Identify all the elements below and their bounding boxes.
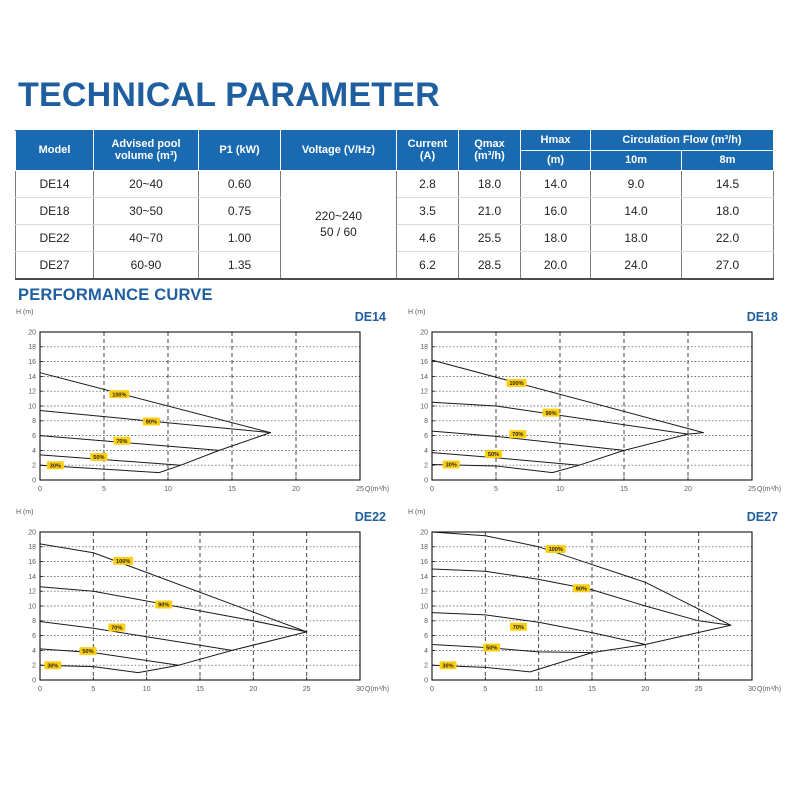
cell-circ-10m: 9.0 (591, 170, 682, 197)
de22-plot: 02468101214161820051015202530Q(m³/h)100%… (18, 524, 390, 702)
svg-text:70%: 70% (116, 439, 127, 445)
svg-text:25: 25 (303, 686, 311, 693)
chart-de14-model-label: DE14 (355, 310, 386, 324)
cell-current: 3.5 (397, 197, 459, 224)
de27-series-100pct (432, 532, 731, 625)
svg-text:14: 14 (420, 374, 428, 381)
svg-text:6: 6 (424, 433, 428, 440)
svg-text:20: 20 (28, 329, 36, 336)
cell-model: DE18 (16, 197, 94, 224)
cell-model: DE14 (16, 170, 94, 197)
cell-current: 2.8 (397, 170, 459, 197)
de18-series-100pct (432, 360, 703, 433)
spec-sheet-page: TECHNICAL PARAMETER Model Advised pool v… (0, 0, 800, 800)
cell-hmax: 20.0 (521, 251, 591, 279)
cell-p1: 1.00 (199, 224, 281, 251)
svg-text:10: 10 (420, 403, 428, 410)
de18-badge-50pct: 50% (485, 450, 502, 458)
svg-text:20: 20 (420, 329, 428, 336)
svg-text:6: 6 (424, 633, 428, 640)
svg-text:16: 16 (420, 359, 428, 366)
svg-text:50%: 50% (488, 452, 499, 458)
svg-text:16: 16 (420, 559, 428, 566)
svg-text:18: 18 (28, 344, 36, 351)
svg-text:30%: 30% (446, 463, 457, 469)
svg-text:10: 10 (28, 603, 36, 610)
de18-badge-90pct: 90% (543, 409, 560, 417)
svg-text:100%: 100% (116, 559, 130, 565)
cell-qmax: 28.5 (459, 251, 521, 279)
de18-plot: 024681012141618200510152025Q(m³/h)100%90… (410, 324, 782, 502)
svg-text:8: 8 (424, 418, 428, 425)
cell-current: 6.2 (397, 251, 459, 279)
svg-text:20: 20 (249, 686, 257, 693)
svg-text:4: 4 (32, 648, 36, 655)
svg-text:100%: 100% (509, 381, 523, 387)
header-advised-pool-volume: Advised pool volume (m³) (94, 131, 199, 171)
cell-circ-10m: 24.0 (591, 251, 682, 279)
svg-text:15: 15 (196, 686, 204, 693)
svg-text:20: 20 (641, 686, 649, 693)
de27-series-90pct (432, 569, 731, 625)
de18-series-90pct (432, 402, 703, 434)
svg-text:14: 14 (420, 574, 428, 581)
svg-text:90%: 90% (545, 411, 556, 417)
svg-text:5: 5 (483, 686, 487, 693)
header-voltage: Voltage (V/Hz) (281, 131, 397, 171)
chart-de27-model-label: DE27 (747, 510, 778, 524)
svg-text:5: 5 (91, 686, 95, 693)
section-title-performance-curve: PERFORMANCE CURVE (18, 286, 213, 305)
svg-text:2: 2 (32, 663, 36, 670)
svg-text:18: 18 (420, 544, 428, 551)
de18-badge-100pct: 100% (506, 379, 526, 387)
svg-text:0: 0 (38, 486, 42, 493)
svg-text:4: 4 (32, 448, 36, 455)
svg-text:6: 6 (32, 633, 36, 640)
svg-text:10: 10 (556, 486, 564, 493)
cell-hmax: 18.0 (521, 224, 591, 251)
cell-qmax: 25.5 (459, 224, 521, 251)
svg-text:20: 20 (292, 486, 300, 493)
de27-badge-70pct: 70% (510, 623, 527, 631)
svg-text:100%: 100% (112, 392, 126, 398)
cell-circ-8m: 22.0 (682, 224, 774, 251)
svg-text:10: 10 (164, 486, 172, 493)
de22-series-70pct (40, 622, 307, 651)
svg-text:8: 8 (32, 618, 36, 625)
chart-de27: H (m) DE27 02468101214161820051015202530… (410, 512, 782, 702)
svg-text:0: 0 (32, 477, 36, 484)
cell-volume: 40~70 (94, 224, 199, 251)
de18-badge-30pct: 30% (443, 460, 460, 468)
svg-text:30%: 30% (442, 663, 453, 669)
svg-text:70%: 70% (513, 625, 524, 631)
page-title: TECHNICAL PARAMETER (18, 78, 440, 112)
chart-de14: H (m) DE14 024681012141618200510152025Q(… (18, 312, 390, 502)
svg-text:90%: 90% (158, 603, 169, 609)
de14-plot: 024681012141618200510152025Q(m³/h)100%90… (18, 324, 390, 502)
svg-text:14: 14 (28, 374, 36, 381)
header-advised-pool-volume-line1: Advised pool (111, 138, 180, 150)
de27-badge-90pct: 90% (573, 584, 590, 592)
de14-badge-100pct: 100% (109, 390, 129, 398)
de22-badge-100pct: 100% (113, 557, 133, 565)
svg-text:50%: 50% (82, 649, 93, 655)
chart-de18-model-label: DE18 (747, 310, 778, 324)
chart-de14-y-axis-label: H (m) (16, 309, 34, 316)
svg-text:18: 18 (420, 344, 428, 351)
svg-text:30%: 30% (47, 663, 58, 669)
chart-de22-y-axis-label: H (m) (16, 509, 34, 516)
cell-model: DE22 (16, 224, 94, 251)
svg-text:15: 15 (620, 486, 628, 493)
svg-text:2: 2 (424, 463, 428, 470)
svg-text:0: 0 (430, 486, 434, 493)
cell-model: DE27 (16, 251, 94, 279)
chart-de18: H (m) DE18 024681012141618200510152025Q(… (410, 312, 782, 502)
cell-hmax: 16.0 (521, 197, 591, 224)
header-model: Model (16, 131, 94, 171)
table-row: DE14 20~40 0.60 220~240 50 / 60 2.8 18.0… (16, 170, 774, 197)
technical-parameter-table: Model Advised pool volume (m³) P1 (kW) V… (15, 130, 774, 280)
svg-text:10: 10 (420, 603, 428, 610)
de18-series-50pct (432, 450, 624, 465)
header-p1: P1 (kW) (199, 131, 281, 171)
voltage-line2: 50 / 60 (320, 225, 357, 239)
svg-text:20: 20 (684, 486, 692, 493)
de22-series-90pct (40, 587, 307, 632)
svg-text:8: 8 (424, 618, 428, 625)
de27-badge-30pct: 30% (440, 661, 457, 669)
cell-qmax: 21.0 (459, 197, 521, 224)
svg-text:2: 2 (424, 663, 428, 670)
cell-volume: 20~40 (94, 170, 199, 197)
header-current-line2: (A) (420, 150, 435, 162)
cell-current: 4.6 (397, 224, 459, 251)
de22-series-100pct (40, 544, 307, 632)
cell-p1: 1.35 (199, 251, 281, 279)
svg-text:20: 20 (420, 529, 428, 536)
cell-circ-10m: 14.0 (591, 197, 682, 224)
header-hmax: Hmax (521, 131, 591, 151)
svg-text:100%: 100% (549, 547, 563, 553)
svg-text:30: 30 (748, 686, 756, 693)
chart-de22-model-label: DE22 (355, 510, 386, 524)
svg-text:0: 0 (424, 477, 428, 484)
header-current: Current (A) (397, 131, 459, 171)
svg-text:12: 12 (28, 589, 36, 596)
svg-text:12: 12 (420, 389, 428, 396)
header-current-line1: Current (408, 138, 448, 150)
svg-text:20: 20 (28, 529, 36, 536)
de18-badge-70pct: 70% (509, 430, 526, 438)
de27-badge-50pct: 50% (483, 643, 500, 651)
header-qmax: Qmax (m³/h) (459, 131, 521, 171)
de27-badge-100pct: 100% (546, 545, 566, 553)
de22-badge-30pct: 30% (44, 661, 61, 669)
svg-text:6: 6 (32, 433, 36, 440)
svg-text:18: 18 (28, 544, 36, 551)
svg-text:Q(m³/h): Q(m³/h) (757, 486, 781, 493)
svg-text:0: 0 (38, 686, 42, 693)
svg-text:5: 5 (494, 486, 498, 493)
svg-text:25: 25 (356, 486, 364, 493)
de14-badge-50pct: 50% (90, 453, 107, 461)
cell-p1: 0.75 (199, 197, 281, 224)
header-circ-8m: 8m (682, 150, 774, 170)
header-qmax-line2: (m³/h) (474, 150, 505, 162)
svg-text:14: 14 (28, 574, 36, 581)
de14-badge-90pct: 90% (143, 418, 160, 426)
svg-text:10: 10 (535, 686, 543, 693)
svg-text:Q(m³/h): Q(m³/h) (365, 686, 389, 693)
svg-text:Q(m³/h): Q(m³/h) (365, 486, 389, 493)
de22-series-50pct (40, 649, 232, 665)
svg-text:16: 16 (28, 359, 36, 366)
svg-text:4: 4 (424, 448, 428, 455)
svg-text:50%: 50% (486, 646, 497, 652)
de22-badge-50pct: 50% (80, 647, 97, 655)
svg-text:90%: 90% (146, 420, 157, 426)
svg-text:30: 30 (356, 686, 364, 693)
cell-circ-8m: 27.0 (682, 251, 774, 279)
svg-text:15: 15 (228, 486, 236, 493)
svg-text:10: 10 (143, 686, 151, 693)
de22-badge-90pct: 90% (155, 601, 172, 609)
cell-hmax: 14.0 (521, 170, 591, 197)
cell-circ-8m: 18.0 (682, 197, 774, 224)
svg-text:Q(m³/h): Q(m³/h) (757, 686, 781, 693)
de14-series-50pct (40, 450, 219, 465)
table-body: DE14 20~40 0.60 220~240 50 / 60 2.8 18.0… (16, 170, 774, 279)
svg-text:0: 0 (424, 677, 428, 684)
svg-text:50%: 50% (93, 455, 104, 461)
de14-series-70pct (40, 433, 270, 451)
chart-de27-y-axis-label: H (m) (408, 509, 426, 516)
chart-de18-y-axis-label: H (m) (408, 309, 426, 316)
cell-voltage-merged: 220~240 50 / 60 (281, 170, 397, 279)
header-circulation-flow: Circulation Flow (m³/h) (591, 131, 774, 151)
svg-text:0: 0 (430, 686, 434, 693)
header-circ-10m: 10m (591, 150, 682, 170)
svg-text:70%: 70% (111, 626, 122, 632)
svg-text:25: 25 (695, 686, 703, 693)
svg-text:70%: 70% (512, 432, 523, 438)
svg-text:0: 0 (32, 677, 36, 684)
svg-text:4: 4 (424, 648, 428, 655)
de22-badge-70pct: 70% (108, 623, 125, 631)
cell-volume: 30~50 (94, 197, 199, 224)
svg-text:30%: 30% (50, 463, 61, 469)
chart-de22: H (m) DE22 02468101214161820051015202530… (18, 512, 390, 702)
cell-circ-8m: 14.5 (682, 170, 774, 197)
de14-badge-30pct: 30% (47, 461, 64, 469)
de27-plot: 02468101214161820051015202530Q(m³/h)100%… (410, 524, 782, 702)
svg-text:5: 5 (102, 486, 106, 493)
svg-text:25: 25 (748, 486, 756, 493)
svg-text:12: 12 (28, 389, 36, 396)
cell-p1: 0.60 (199, 170, 281, 197)
cell-qmax: 18.0 (459, 170, 521, 197)
header-hmax-unit: (m) (521, 150, 591, 170)
header-qmax-line1: Qmax (474, 138, 505, 150)
cell-circ-10m: 18.0 (591, 224, 682, 251)
svg-text:15: 15 (588, 686, 596, 693)
voltage-line1: 220~240 (315, 209, 362, 223)
svg-text:2: 2 (32, 463, 36, 470)
svg-text:90%: 90% (576, 586, 587, 592)
table-header-row-1: Model Advised pool volume (m³) P1 (kW) V… (16, 131, 774, 151)
svg-text:12: 12 (420, 589, 428, 596)
de14-badge-70pct: 70% (113, 437, 130, 445)
svg-text:16: 16 (28, 559, 36, 566)
svg-text:8: 8 (32, 418, 36, 425)
header-advised-pool-volume-line2: volume (m³) (115, 150, 177, 162)
cell-volume: 60-90 (94, 251, 199, 279)
svg-text:10: 10 (28, 403, 36, 410)
